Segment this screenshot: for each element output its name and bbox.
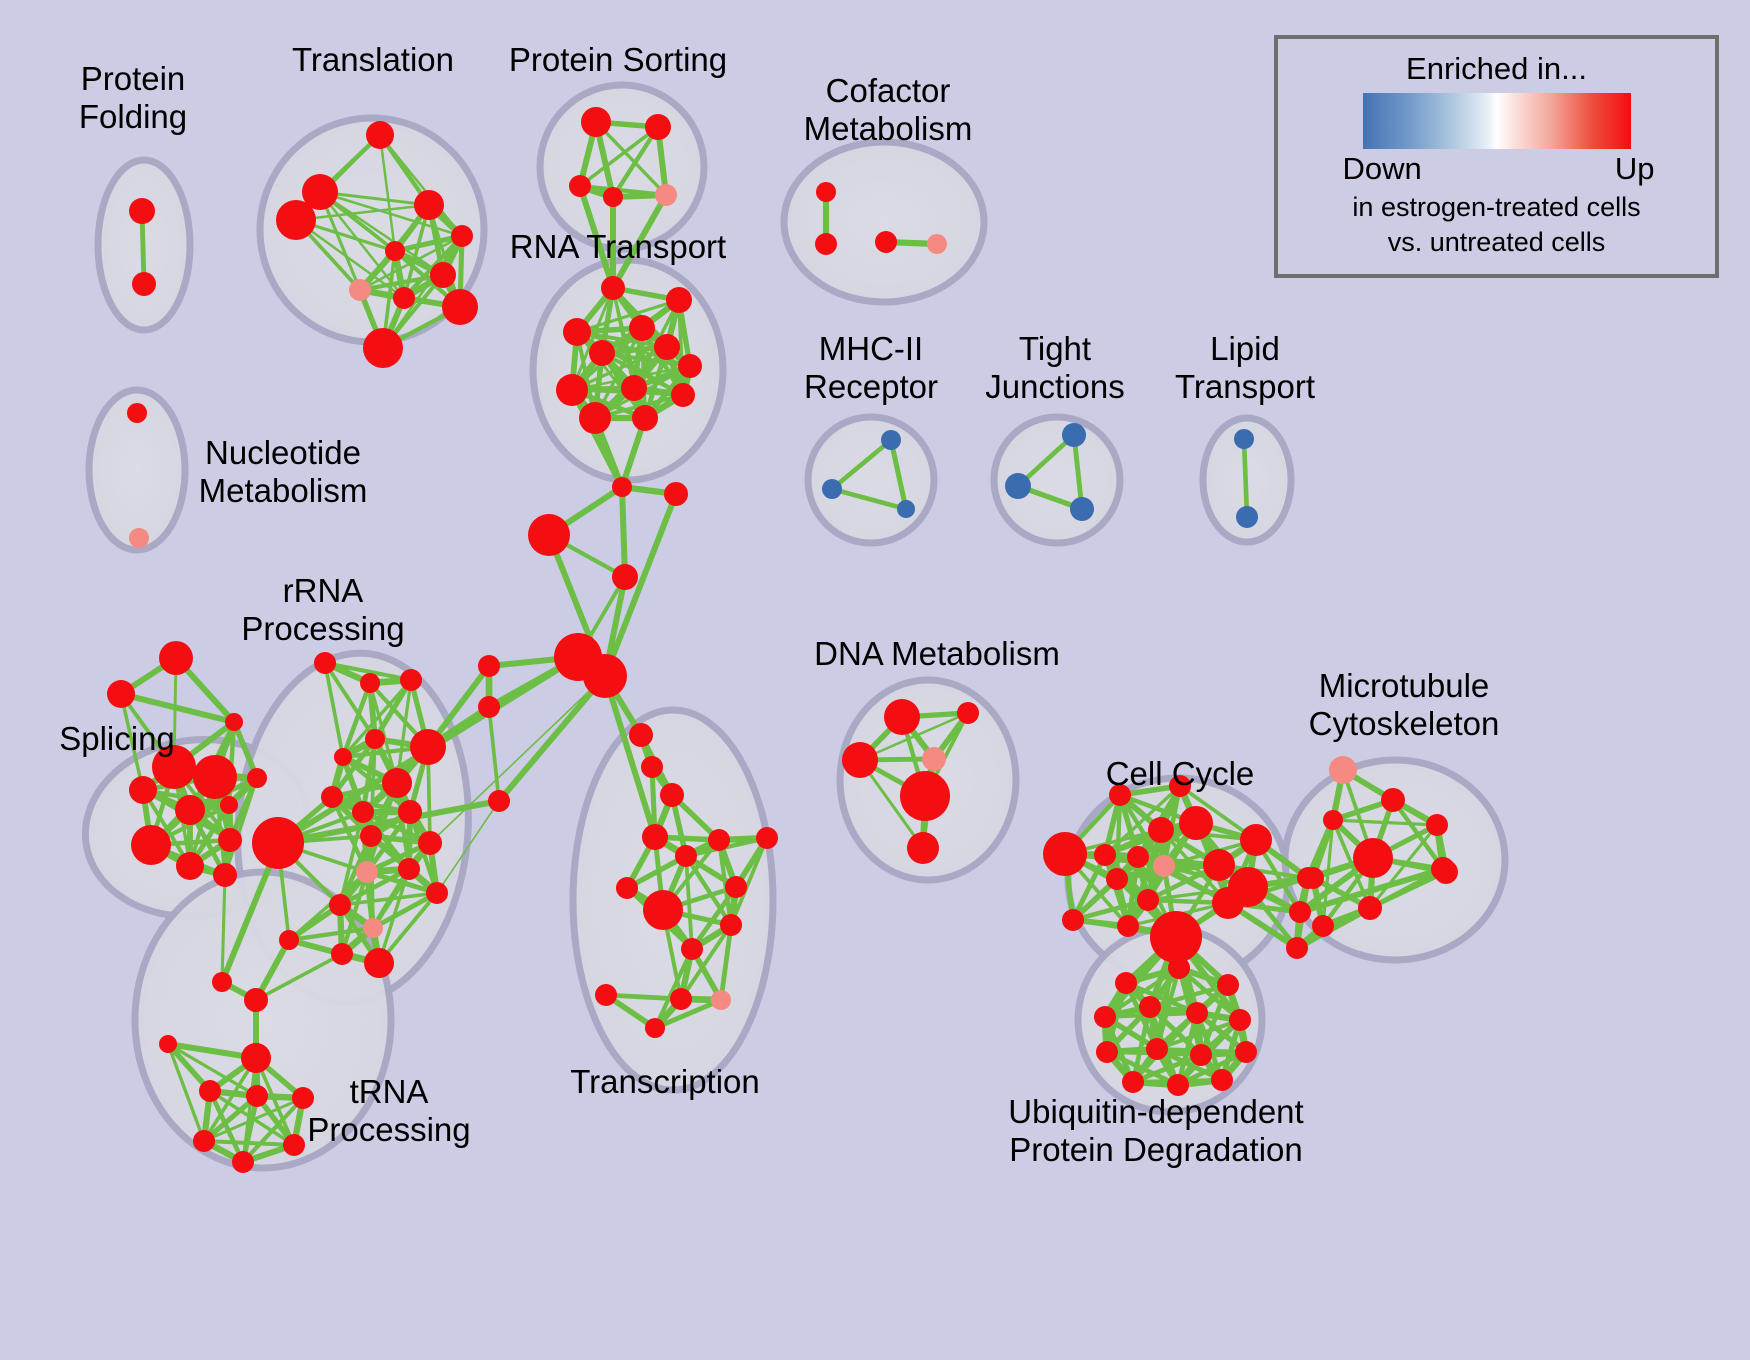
network-node[interactable] (329, 894, 351, 916)
network-node[interactable] (1106, 868, 1128, 890)
network-node[interactable] (241, 1043, 271, 1073)
network-node[interactable] (922, 747, 946, 771)
network-node[interactable] (643, 890, 683, 930)
network-node[interactable] (398, 858, 420, 880)
network-node[interactable] (1153, 855, 1175, 877)
network-node[interactable] (193, 755, 237, 799)
network-node[interactable] (1236, 506, 1258, 528)
network-node[interactable] (1148, 817, 1174, 843)
network-node[interactable] (159, 641, 193, 675)
network-node[interactable] (1062, 909, 1084, 931)
network-node[interactable] (671, 383, 695, 407)
network-node[interactable] (478, 696, 500, 718)
network-node[interactable] (1234, 429, 1254, 449)
network-node[interactable] (1139, 996, 1161, 1018)
network-node[interactable] (666, 287, 692, 313)
network-node[interactable] (382, 768, 412, 798)
network-node[interactable] (725, 876, 747, 898)
network-node[interactable] (842, 742, 878, 778)
network-node[interactable] (356, 861, 378, 883)
network-node[interactable] (252, 817, 304, 869)
network-node[interactable] (581, 107, 611, 137)
network-node[interactable] (159, 1035, 177, 1053)
network-node[interactable] (708, 829, 730, 851)
network-node[interactable] (218, 828, 242, 852)
network-node[interactable] (129, 528, 149, 548)
network-node[interactable] (1358, 896, 1382, 920)
network-node[interactable] (616, 877, 638, 899)
network-node[interactable] (1005, 473, 1031, 499)
network-node[interactable] (655, 184, 677, 206)
network-node[interactable] (642, 824, 668, 850)
network-node[interactable] (1203, 849, 1235, 881)
network-node[interactable] (670, 988, 692, 1010)
network-node[interactable] (1211, 1069, 1233, 1091)
network-node[interactable] (632, 405, 658, 431)
network-node[interactable] (366, 121, 394, 149)
network-node[interactable] (1094, 1006, 1116, 1028)
network-node[interactable] (360, 673, 380, 693)
network-node[interactable] (478, 655, 500, 677)
network-node[interactable] (199, 1080, 221, 1102)
network-node[interactable] (1353, 838, 1393, 878)
network-node[interactable] (363, 918, 383, 938)
network-node[interactable] (398, 800, 422, 824)
network-node[interactable] (621, 375, 647, 401)
network-node[interactable] (1115, 972, 1137, 994)
network-node[interactable] (1146, 1038, 1168, 1060)
cluster-label-microtubule-cytoskeleton: Microtubule Cytoskeleton (1309, 667, 1500, 743)
network-node[interactable] (247, 768, 267, 788)
network-node[interactable] (641, 756, 663, 778)
cluster-label-tight-junctions: Tight Junctions (985, 330, 1124, 406)
network-node[interactable] (107, 680, 135, 708)
network-node[interactable] (283, 1134, 305, 1156)
cluster-label-mhc-ii-receptor: MHC-II Receptor (804, 330, 938, 406)
network-node[interactable] (127, 403, 147, 423)
network-node[interactable] (1302, 867, 1324, 889)
network-node[interactable] (349, 279, 371, 301)
network-node[interactable] (1062, 423, 1086, 447)
network-node[interactable] (603, 187, 623, 207)
network-node[interactable] (595, 984, 617, 1006)
network-node[interactable] (645, 1018, 665, 1038)
network-node[interactable] (1235, 1041, 1257, 1063)
network-node[interactable] (360, 825, 382, 847)
network-node[interactable] (1286, 937, 1308, 959)
network-node[interactable] (365, 729, 385, 749)
cluster-label-transcription: Transcription (570, 1063, 760, 1101)
network-node[interactable] (246, 1085, 268, 1107)
network-edge (1244, 439, 1247, 517)
network-node[interactable] (927, 234, 947, 254)
network-node[interactable] (279, 930, 299, 950)
network-node[interactable] (321, 786, 343, 808)
network-node[interactable] (400, 669, 422, 691)
network-node[interactable] (1070, 497, 1094, 521)
network-node[interactable] (907, 832, 939, 864)
network-node[interactable] (385, 241, 405, 261)
network-node[interactable] (430, 262, 456, 288)
network-node[interactable] (244, 988, 268, 1012)
network-node[interactable] (352, 801, 374, 823)
network-node[interactable] (225, 713, 243, 731)
legend-up-label: Up (1615, 151, 1655, 187)
network-node[interactable] (1094, 844, 1116, 866)
network-node[interactable] (132, 272, 156, 296)
network-node[interactable] (589, 340, 615, 366)
network-node[interactable] (212, 972, 232, 992)
network-node[interactable] (875, 231, 897, 253)
legend-caption-line2: vs. untreated cells (1278, 226, 1715, 259)
network-node[interactable] (129, 198, 155, 224)
network-node[interactable] (583, 654, 627, 698)
cluster-ellipse (784, 142, 984, 302)
network-node[interactable] (364, 948, 394, 978)
network-node[interactable] (720, 914, 742, 936)
network-node[interactable] (660, 783, 684, 807)
network-node[interactable] (1212, 887, 1244, 919)
network-node[interactable] (451, 225, 473, 247)
network-node[interactable] (1312, 915, 1334, 937)
legend-caption-line1: in estrogen-treated cells (1278, 191, 1715, 224)
network-node[interactable] (129, 776, 157, 804)
network-node[interactable] (1229, 1009, 1251, 1031)
cluster-ellipse (808, 417, 934, 543)
network-node[interactable] (410, 729, 446, 765)
network-node[interactable] (897, 500, 915, 518)
network-node[interactable] (645, 114, 671, 140)
network-node[interactable] (363, 328, 403, 368)
network-node[interactable] (175, 795, 205, 825)
cluster-label-protein-folding: Protein Folding (79, 60, 187, 136)
cluster-label-ubiquitin-protein-degradation: Ubiquitin-dependent Protein Degradation (1008, 1093, 1303, 1169)
network-node[interactable] (822, 479, 842, 499)
network-node[interactable] (664, 482, 688, 506)
network-node[interactable] (1323, 810, 1343, 830)
cluster-label-rrna-processing: rRNA Processing (241, 572, 404, 648)
network-node[interactable] (331, 943, 353, 965)
legend-endpoints: Down Up (1347, 151, 1647, 189)
network-node[interactable] (556, 374, 588, 406)
legend-down-label: Down (1343, 151, 1422, 187)
network-node[interactable] (957, 702, 979, 724)
network-node[interactable] (1127, 846, 1149, 868)
network-node[interactable] (334, 748, 352, 766)
network-node[interactable] (314, 652, 336, 674)
network-node[interactable] (711, 990, 731, 1010)
cluster-label-protein-sorting: Protein Sorting (509, 41, 727, 79)
network-node[interactable] (681, 938, 703, 960)
network-node[interactable] (884, 699, 920, 735)
network-edge (489, 707, 499, 801)
network-node[interactable] (426, 882, 448, 904)
network-node[interactable] (414, 190, 444, 220)
network-node[interactable] (678, 354, 702, 378)
network-node[interactable] (176, 852, 204, 880)
network-node[interactable] (579, 402, 611, 434)
network-node[interactable] (528, 514, 570, 556)
network-node[interactable] (232, 1151, 254, 1173)
network-node[interactable] (1329, 756, 1357, 784)
network-node[interactable] (1381, 788, 1405, 812)
network-node[interactable] (193, 1130, 215, 1152)
network-node[interactable] (569, 175, 591, 197)
network-node[interactable] (418, 831, 442, 855)
network-node[interactable] (488, 790, 510, 812)
network-node[interactable] (1190, 1044, 1212, 1066)
network-node[interactable] (900, 771, 950, 821)
network-node[interactable] (1179, 806, 1213, 840)
cluster-label-translation: Translation (292, 41, 454, 79)
network-edge (622, 487, 625, 577)
network-node[interactable] (1240, 824, 1272, 856)
network-figure: Protein FoldingTranslationProtein Sortin… (0, 0, 1750, 1360)
network-node[interactable] (881, 430, 901, 450)
network-node[interactable] (1122, 1071, 1144, 1093)
network-node[interactable] (131, 825, 171, 865)
network-node[interactable] (612, 477, 632, 497)
network-node[interactable] (1117, 915, 1139, 937)
cluster-label-rna-transport: RNA Transport (510, 228, 726, 266)
network-node[interactable] (1426, 814, 1448, 836)
network-node[interactable] (276, 200, 316, 240)
cluster-label-cell-cycle: Cell Cycle (1106, 755, 1255, 793)
network-node[interactable] (601, 276, 625, 300)
network-node[interactable] (629, 315, 655, 341)
network-node[interactable] (1186, 1002, 1208, 1024)
cluster-label-nucleotide-metabolism: Nucleotide Metabolism (199, 434, 368, 510)
legend-color-gradient (1363, 93, 1631, 149)
cluster-label-dna-metabolism: DNA Metabolism (814, 635, 1060, 673)
network-node[interactable] (213, 863, 237, 887)
network-node[interactable] (220, 796, 238, 814)
network-node[interactable] (393, 287, 415, 309)
network-node[interactable] (816, 182, 836, 202)
network-node[interactable] (815, 233, 837, 255)
network-node[interactable] (756, 827, 778, 849)
cluster-label-splicing: Splicing (59, 720, 175, 758)
cluster-ellipse (540, 85, 704, 249)
network-node[interactable] (1096, 1041, 1118, 1063)
cluster-label-lipid-transport: Lipid Transport (1175, 330, 1315, 406)
cluster-label-trna-processing: tRNA Processing (307, 1073, 470, 1149)
network-node[interactable] (675, 845, 697, 867)
network-node[interactable] (1217, 974, 1239, 996)
network-node[interactable] (1137, 889, 1159, 911)
network-node[interactable] (1168, 957, 1190, 979)
legend-box: Enriched in... Down Up in estrogen-treat… (1274, 35, 1719, 278)
network-node[interactable] (654, 334, 680, 360)
network-node[interactable] (1150, 911, 1202, 963)
cluster-label-cofactor-metabolism: Cofactor Metabolism (804, 72, 973, 148)
network-node[interactable] (1434, 860, 1458, 884)
network-node[interactable] (442, 289, 478, 325)
network-node[interactable] (1289, 901, 1311, 923)
network-node[interactable] (1043, 832, 1087, 876)
network-node[interactable] (629, 723, 653, 747)
network-node[interactable] (612, 564, 638, 590)
network-node[interactable] (563, 318, 591, 346)
legend-title: Enriched in... (1278, 51, 1715, 87)
